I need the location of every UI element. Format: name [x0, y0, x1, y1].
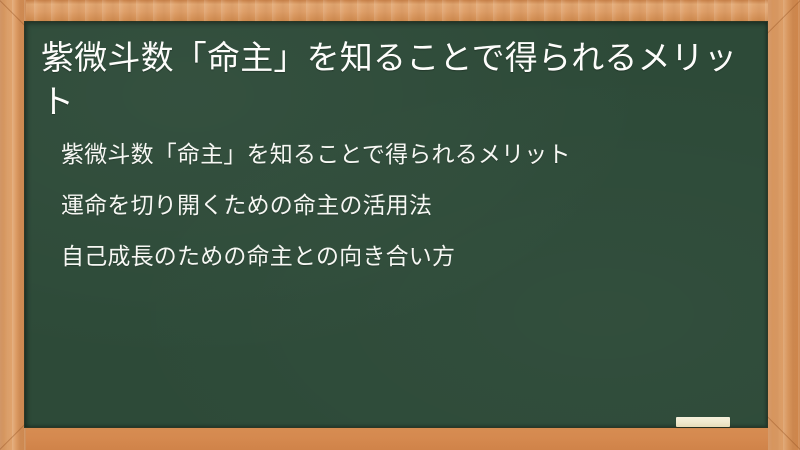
outline-list: 紫微斗数「命主」を知ることで得られるメリット 運命を切り開くための命主の活用法 … — [37, 143, 749, 268]
chalkboard-surface: 紫微斗数「命主」を知ることで得られるメリット 紫微斗数「命主」を知ることで得られ… — [25, 22, 767, 427]
list-item: 自己成長のための命主との向き合い方 — [61, 245, 749, 268]
slide-content: 紫微斗数「命主」を知ることで得られるメリット 紫微斗数「命主」を知ることで得られ… — [25, 22, 767, 427]
frame-bottom-rail — [0, 426, 800, 450]
page-title: 紫微斗数「命主」を知ることで得られるメリット — [37, 30, 749, 123]
frame-top-rail — [0, 0, 800, 24]
list-item: 運命を切り開くための命主の活用法 — [61, 194, 749, 217]
frame-right-stile — [768, 0, 800, 450]
chalkboard-slide: 紫微斗数「命主」を知ることで得られるメリット 紫微斗数「命主」を知ることで得られ… — [0, 0, 800, 450]
list-item: 紫微斗数「命主」を知ることで得られるメリット — [61, 143, 749, 166]
chalk-piece-icon — [676, 417, 730, 427]
frame-left-stile — [0, 0, 26, 450]
